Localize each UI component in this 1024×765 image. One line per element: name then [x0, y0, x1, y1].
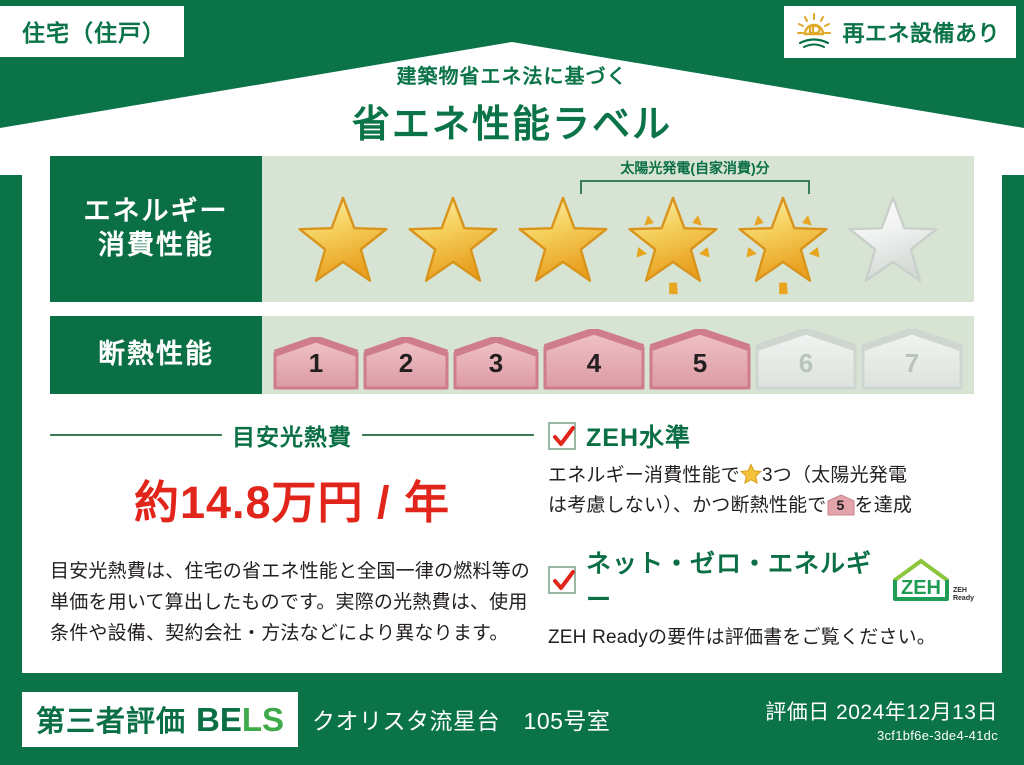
evaluation-date: 評価日 2024年12月13日	[765, 696, 998, 726]
energy-performance-label: 住宅（住戸） 再エネ設備あり	[0, 0, 1024, 765]
solar-annotation-label: 太陽光発電(自家消費)分	[580, 158, 810, 178]
page-title: 省エネ性能ラベル	[0, 93, 1024, 148]
insulation-level-inactive: 7	[860, 329, 964, 391]
insulation-level-number: 2	[362, 348, 450, 379]
energy-cost-heading-text: 目安光熱費	[232, 418, 352, 452]
title-block: 建築物省エネ法に基づく 省エネ性能ラベル	[0, 60, 1024, 148]
inline-star-icon	[740, 463, 762, 485]
insulation-level-active: 3	[452, 337, 540, 391]
solar-bracket-icon	[580, 180, 810, 194]
insulation-level-number: 3	[452, 348, 540, 379]
bels-logo: 第三者評価 BELS	[22, 692, 298, 747]
title-subtitle: 建築物省エネ法に基づく	[0, 60, 1024, 89]
zeh-section: ZEH水準 エネルギー消費性能で 3つ（太陽光発電 は考慮しない）、かつ断熱性能…	[534, 418, 974, 653]
zeh-standard-body-part2: は考慮しない）、かつ断熱性能で	[548, 495, 827, 516]
zeh-standard-star-count: 3つ（太陽光発電	[762, 465, 907, 486]
zeh-netzero-block: ネット・ゼロ・エネルギー ZEH ZEH Ready	[548, 544, 974, 653]
renewable-equipment-badge: 再エネ設備あり	[784, 6, 1016, 58]
energy-cost-value: 約14.8万円 / 年	[50, 466, 534, 531]
zeh-standard-block: ZEH水準 エネルギー消費性能で 3つ（太陽光発電 は考慮しない）、かつ断熱性能…	[548, 418, 974, 522]
energy-cost-note: 目安光熱費は、住宅の省エネ性能と全国一律の燃料等の単価を用いて算出したものです。…	[50, 557, 534, 649]
evaluation-id: 3cf1bf6e-3de4-41dc	[765, 728, 998, 743]
bels-jp-text: 第三者評価	[36, 698, 186, 740]
star-filled	[511, 194, 615, 298]
zeh-ready-sublabel: ZEH Ready	[953, 587, 974, 603]
zeh-ready-logo: ZEH ZEH Ready	[891, 557, 974, 603]
energy-performance-label: エネルギー 消費性能	[50, 156, 262, 302]
insulation-level-active: 1	[272, 337, 360, 391]
zeh-standard-title: ZEH水準	[586, 418, 691, 454]
insulation-performance-row: 断熱性能 1	[50, 316, 974, 394]
svg-text:ZEH: ZEH	[901, 577, 941, 599]
solar-annotation: 太陽光発電(自家消費)分	[580, 158, 810, 194]
insulation-level-active: 2	[362, 337, 450, 391]
house-type-tag: 住宅（住戸）	[0, 6, 184, 57]
zeh-netzero-heading: ネット・ゼロ・エネルギー ZEH ZEH Ready	[548, 544, 974, 616]
zeh-house-logo-icon: ZEH	[891, 557, 951, 603]
renewable-badge-label: 再エネ設備あり	[842, 16, 1000, 48]
zeh-standard-heading: ZEH水準	[548, 418, 974, 454]
main-card: エネルギー 消費性能 太陽光発電(自家消費)分	[22, 128, 1002, 673]
insulation-level-number: 6	[754, 348, 858, 379]
insulation-level-number: 4	[542, 348, 646, 379]
bels-en-text: BELS	[196, 701, 284, 739]
energy-performance-row: エネルギー 消費性能 太陽光発電(自家消費)分	[50, 156, 974, 302]
heading-rule-left	[50, 434, 222, 436]
insulation-level-number: 1	[272, 348, 360, 379]
building-name: クオリスタ流星台 105号室	[312, 702, 610, 736]
insulation-label-text: 断熱性能	[98, 338, 214, 372]
check-icon	[552, 425, 576, 449]
zeh-ready-line2: Ready	[953, 595, 974, 602]
star-empty	[841, 194, 945, 298]
energy-label-line2: 消費性能	[98, 229, 214, 263]
energy-stars-area: 太陽光発電(自家消費)分	[262, 156, 974, 302]
energy-cost-heading: 目安光熱費	[50, 418, 534, 452]
footer: 第三者評価 BELS クオリスタ流星台 105号室 評価日 2024年12月13…	[0, 673, 1024, 765]
energy-cost-section: 目安光熱費 約14.8万円 / 年 目安光熱費は、住宅の省エネ性能と全国一律の燃…	[50, 418, 534, 653]
zeh-netzero-checkbox[interactable]	[548, 566, 576, 594]
star-filled	[731, 194, 835, 298]
bels-en-part2: LS	[242, 701, 284, 738]
star-rating	[262, 194, 974, 298]
solar-sun-icon	[794, 12, 834, 52]
inline-house-level-number: 5	[827, 494, 855, 516]
star-filled	[291, 194, 395, 298]
insulation-level-active: 4	[542, 329, 646, 391]
bels-en-part1: BE	[196, 701, 242, 738]
zeh-standard-body-part1: エネルギー消費性能で	[548, 465, 740, 486]
insulation-level-number: 7	[860, 348, 964, 379]
zeh-standard-body-part3: を達成	[855, 495, 913, 516]
inline-house-level-icon: 5	[827, 494, 855, 516]
zeh-standard-body: エネルギー消費性能で 3つ（太陽光発電 は考慮しない）、かつ断熱性能で 5 を達…	[548, 461, 974, 522]
footer-meta: 評価日 2024年12月13日 3cf1bf6e-3de4-41dc	[765, 696, 998, 743]
star-filled	[401, 194, 505, 298]
insulation-level-active: 5	[648, 329, 752, 391]
zeh-standard-checkbox[interactable]	[548, 422, 576, 450]
insulation-level-scale: 1 2	[262, 329, 974, 391]
star-filled	[621, 194, 725, 298]
zeh-netzero-body: ZEH Readyの要件は評価書をご覧ください。	[548, 623, 974, 653]
check-icon	[552, 569, 576, 593]
energy-label-line1: エネルギー	[84, 195, 229, 229]
insulation-levels-area: 1 2	[262, 316, 974, 394]
insulation-performance-label: 断熱性能	[50, 316, 262, 394]
zeh-netzero-title: ネット・ゼロ・エネルギー	[586, 544, 881, 616]
insulation-level-inactive: 6	[754, 329, 858, 391]
heading-rule-right	[362, 434, 534, 436]
performance-section: エネルギー 消費性能 太陽光発電(自家消費)分	[50, 156, 974, 408]
insulation-level-number: 5	[648, 348, 752, 379]
lower-section: 目安光熱費 約14.8万円 / 年 目安光熱費は、住宅の省エネ性能と全国一律の燃…	[50, 418, 974, 653]
zeh-ready-line1: ZEH	[953, 587, 967, 594]
